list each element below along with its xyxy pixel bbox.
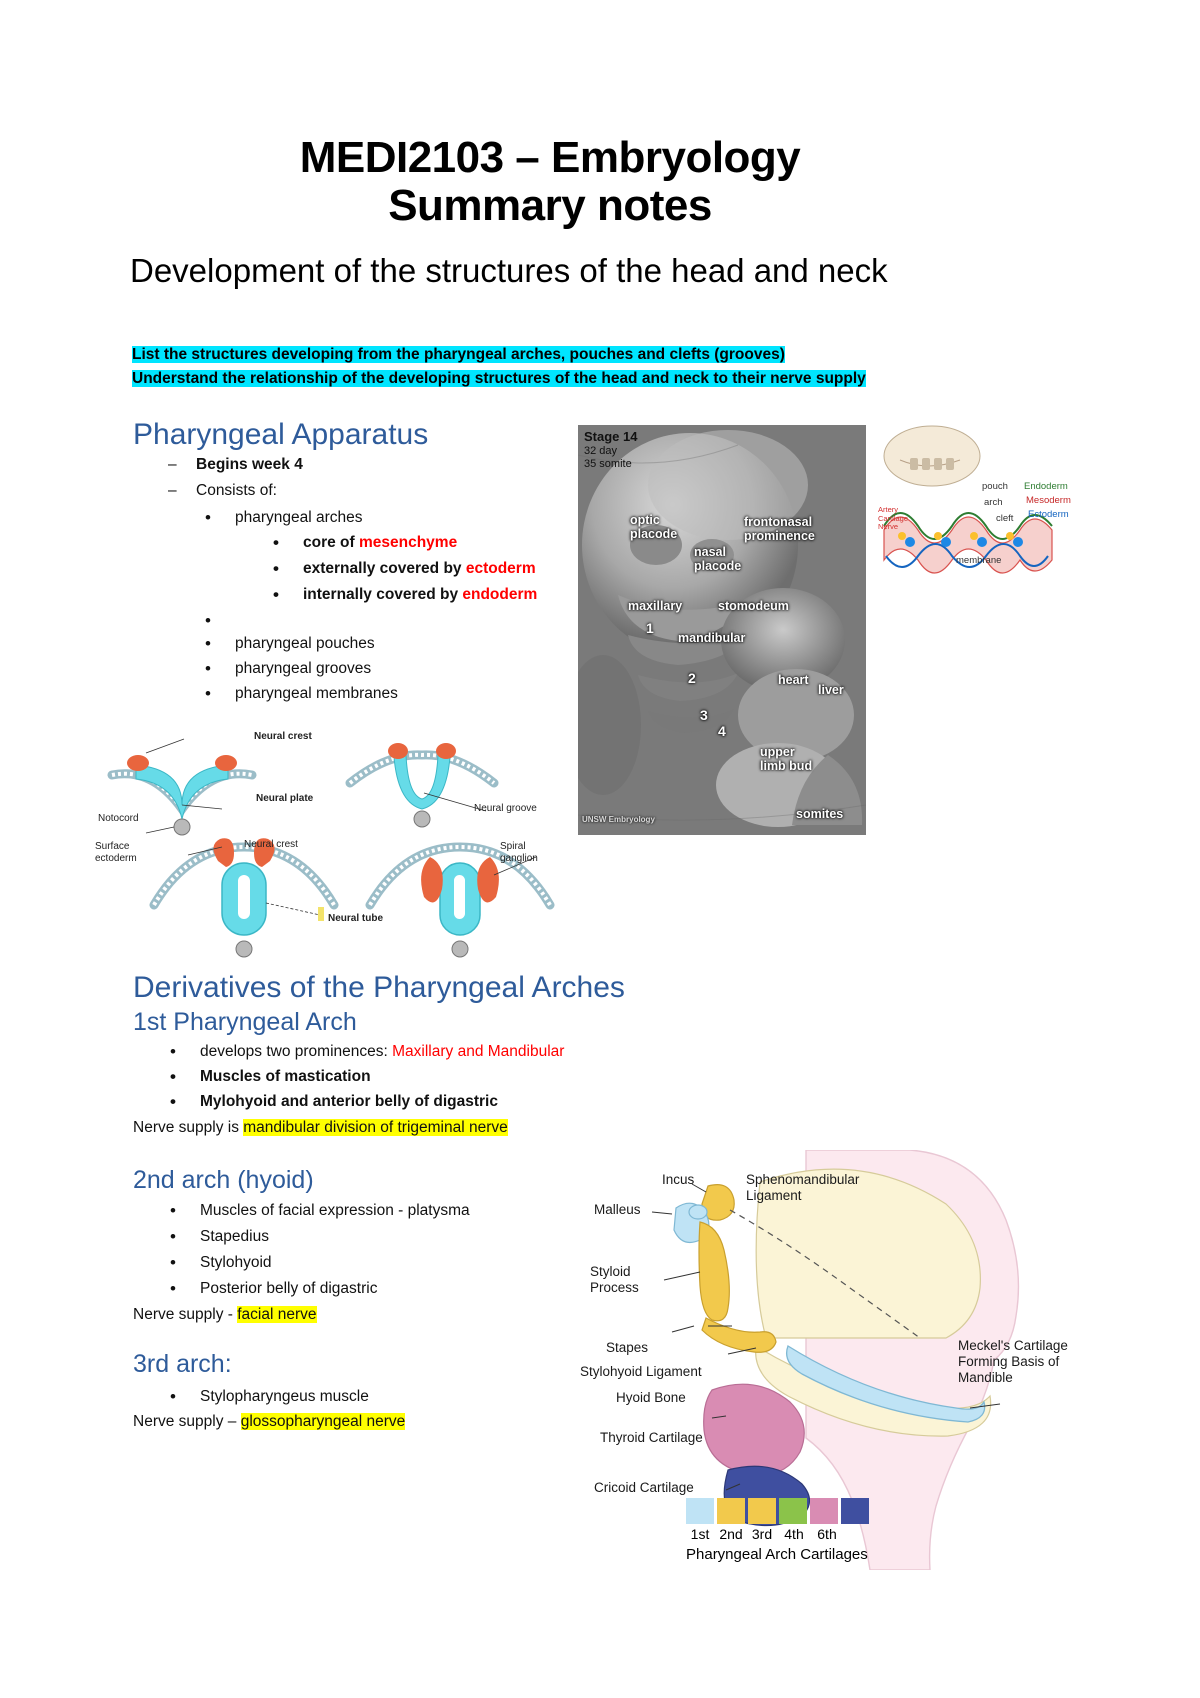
label-line: placode xyxy=(630,527,677,541)
label-text: Spiral ganglion xyxy=(500,841,538,864)
label-text: Styloid Process xyxy=(590,1264,639,1295)
label-line: nasal xyxy=(694,545,741,559)
label-cricoid-cartilage: Cricoid Cartilage xyxy=(594,1480,694,1496)
label-stomodeum: stomodeum xyxy=(718,599,789,613)
diag-label-mesoderm: Mesoderm xyxy=(1026,496,1071,507)
arch-number-4: 4 xyxy=(718,723,726,739)
nerve-highlight: facial nerve xyxy=(237,1306,316,1323)
bullet-text: pharyngeal pouches xyxy=(235,632,375,655)
label-thyroid-cartilage: Thyroid Cartilage xyxy=(600,1430,703,1446)
bullet-text-accent: Maxillary and Mandibular xyxy=(392,1043,564,1060)
arch2-bullet-stapedius: Stapedius xyxy=(200,1225,269,1248)
bullet-text: pharyngeal membranes xyxy=(235,682,398,705)
arch2-bullet-stylohyoid: Stylohyoid xyxy=(200,1251,272,1274)
arch3-bullet-stylopharyngeus: Stylopharyngeus muscle xyxy=(200,1385,369,1408)
neurulation-graphic xyxy=(96,715,566,965)
label-heart: heart xyxy=(778,673,809,687)
arch1-nerve-supply: Nerve supply is mandibular division of t… xyxy=(133,1116,508,1139)
legend-title: Pharyngeal Arch Cartilages xyxy=(686,1546,946,1563)
arch2-nerve-supply: Nerve supply - facial nerve xyxy=(133,1303,317,1326)
label-mandibular: mandibular xyxy=(678,631,745,645)
arch3-nerve-supply: Nerve supply – glossopharyngeal nerve xyxy=(133,1410,405,1433)
label-styloid-process: Styloid Process xyxy=(590,1264,650,1296)
diag-label-artery-cartilage-nerve: Artery Cartilage Nerve xyxy=(878,506,912,532)
label-nasal-placode: nasal placode xyxy=(694,545,741,574)
legend-swatch-6th xyxy=(810,1498,838,1524)
page-title: MEDI2103 – Embryology Summary notes xyxy=(130,134,970,229)
bullet-begins-week-4: Begins week 4 xyxy=(196,453,303,476)
bullet-text-accent: endoderm xyxy=(462,586,537,603)
label-line: frontonasal xyxy=(744,515,815,529)
label-line: upper xyxy=(760,745,812,759)
document-subtitle: Development of the structures of the hea… xyxy=(130,252,980,291)
arch1-bullet-muscles-mastication: Muscles of mastication xyxy=(200,1065,371,1088)
neural-tube-label: Neural tube xyxy=(328,913,383,925)
spiral-ganglion-label: Spiral ganglion xyxy=(500,841,542,864)
label-upper-limb-bud: upper limb bud xyxy=(760,745,812,774)
legend-swatches xyxy=(686,1498,946,1524)
diag-label-endoderm: Endoderm xyxy=(1024,482,1068,493)
label-line: limb bud xyxy=(760,759,812,773)
legend-key-2nd: 2nd xyxy=(717,1526,745,1542)
heading-arch-1: 1st Pharyngeal Arch xyxy=(133,1008,357,1037)
neural-crest-label-1: Neural crest xyxy=(254,731,312,743)
label-liver: liver xyxy=(818,683,844,697)
label-stapes: Stapes xyxy=(606,1340,648,1356)
bullet-internally-covered-endoderm: internally covered by endoderm xyxy=(303,583,537,606)
label-text: Meckel's Cartilage Forming Basis of Mand… xyxy=(958,1338,1068,1385)
bullet-text: Muscles of facial expression - platysma xyxy=(200,1199,470,1222)
label-line: prominence xyxy=(744,529,815,543)
photo-credit: UNSW Embryology xyxy=(582,815,655,824)
objective-2: Understand the relationship of the devel… xyxy=(132,370,866,387)
embryo-photo-graphic xyxy=(578,425,866,835)
arch-number-3: 3 xyxy=(700,707,708,723)
bullet-text-wrap: develops two prominences: Maxillary and … xyxy=(200,1040,564,1063)
legend-swatch-1st xyxy=(686,1498,714,1524)
diag-label-arch: arch xyxy=(984,498,1002,509)
pharyngeal-arch-section-diagram: Endoderm Mesoderm Ectoderm pouch arch cl… xyxy=(876,420,1068,610)
bullet-text: pharyngeal arches xyxy=(235,506,363,529)
embryo-stage-caption: Stage 14 32 day 35 somite xyxy=(584,429,637,471)
somite-label: 35 somite xyxy=(584,458,637,471)
bullet-text: Begins week 4 xyxy=(196,453,303,476)
arch1-bullet-prominences: develops two prominences: Maxillary and … xyxy=(200,1040,564,1063)
diag-label-cleft: cleft xyxy=(996,514,1013,525)
bullet-text: Consists of: xyxy=(196,479,277,502)
heading-pharyngeal-apparatus: Pharyngeal Apparatus xyxy=(133,418,428,452)
label-malleus: Malleus xyxy=(594,1202,641,1218)
stage-label: Stage 14 xyxy=(584,429,637,445)
bullet-text: pharyngeal grooves xyxy=(235,657,371,680)
arch-cartilage-legend: 1st 2nd 3rd 4th 6th Pharyngeal Arch Cart… xyxy=(686,1498,946,1563)
bullet-text: Stylopharyngeus muscle xyxy=(200,1385,369,1408)
bullet-pharyngeal-arches: pharyngeal arches xyxy=(235,506,363,529)
label-line: optic xyxy=(630,513,677,527)
nerve-highlight: glossopharyngeal nerve xyxy=(241,1413,406,1430)
day-label: 32 day xyxy=(584,445,637,458)
bullet-text: Stylohyoid xyxy=(200,1251,272,1274)
legend-key-4th: 4th xyxy=(779,1526,809,1542)
learning-objectives: List the structures developing from the … xyxy=(132,343,977,391)
heading-arch-3: 3rd arch: xyxy=(133,1350,232,1379)
neural-groove-label: Neural groove xyxy=(474,803,537,815)
title-line-2: Summary notes xyxy=(130,182,970,230)
legend-swatch-2nd xyxy=(717,1498,745,1524)
label-meckels-cartilage: Meckel's Cartilage Forming Basis of Mand… xyxy=(958,1338,1094,1386)
diag-label-membrane: membrane xyxy=(956,556,1001,567)
diag-label-pouch: pouch xyxy=(982,482,1008,493)
neural-crest-label-2: Neural crest xyxy=(244,839,298,851)
nerve-highlight: mandibular division of trigeminal nerve xyxy=(243,1119,508,1136)
arch1-bullet-mylohyoid: Mylohyoid and anterior belly of digastri… xyxy=(200,1090,498,1113)
bullet-text-wrap: internally covered by endoderm xyxy=(303,583,537,606)
notocord-label: Notocord xyxy=(98,813,139,825)
bullet-text-wrap: core of mesenchyme xyxy=(303,531,457,554)
label-maxillary: maxillary xyxy=(628,599,682,613)
legend-swatch-3rd xyxy=(748,1498,776,1524)
label-hyoid-bone: Hyoid Bone xyxy=(616,1390,686,1406)
bullet-text-accent: mesenchyme xyxy=(359,534,457,551)
diag-label-ectoderm: Ectoderm xyxy=(1028,510,1069,521)
bullet-text: Mylohyoid and anterior belly of digastri… xyxy=(200,1090,498,1113)
bullet-text: Muscles of mastication xyxy=(200,1065,371,1088)
bullet-text: core of xyxy=(303,534,359,551)
heading-arch-2: 2nd arch (hyoid) xyxy=(133,1166,314,1195)
bullet-text: Stapedius xyxy=(200,1225,269,1248)
label-somites: somites xyxy=(796,807,843,821)
legend-key-1st: 1st xyxy=(686,1526,714,1542)
arch-cartilages-figure: Incus Malleus Styloid Process Stapes Sty… xyxy=(580,1150,1100,1698)
bullet-pharyngeal-pouches: pharyngeal pouches xyxy=(235,632,375,655)
document-page: MEDI2103 – Embryology Summary notes Deve… xyxy=(0,0,1200,1698)
objective-1: List the structures developing from the … xyxy=(132,346,785,363)
surface-ectoderm-label: Surface ectoderm xyxy=(95,841,151,864)
arch2-bullet-posterior-digastric: Posterior belly of digastric xyxy=(200,1277,377,1300)
heading-derivatives: Derivatives of the Pharyngeal Arches xyxy=(133,971,625,1005)
arch-number-1: 1 xyxy=(646,620,654,636)
neurulation-diagram: Neural crest Neural plate Notocord Neura… xyxy=(96,715,566,965)
bullet-consists-of: Consists of: xyxy=(196,479,277,502)
bullet-text: internally covered by xyxy=(303,586,462,603)
legend-keys: 1st 2nd 3rd 4th 6th xyxy=(686,1526,946,1542)
label-frontonasal-prominence: frontonasal prominence xyxy=(744,515,815,544)
arch2-bullet-facial-expression: Muscles of facial expression - platysma xyxy=(200,1199,470,1222)
label-text: Surface ectoderm xyxy=(95,841,137,864)
nerve-prefix: Nerve supply - xyxy=(133,1306,237,1323)
bullet-pharyngeal-membranes: pharyngeal membranes xyxy=(235,682,398,705)
bullet-externally-covered-ectoderm: externally covered by ectoderm xyxy=(303,557,536,580)
title-line-1: MEDI2103 – Embryology xyxy=(130,134,970,182)
label-stylohyoid-ligament: Stylohyoid Ligament xyxy=(580,1364,702,1380)
nerve-prefix: Nerve supply – xyxy=(133,1413,241,1430)
objective-row-1: List the structures developing from the … xyxy=(132,343,977,367)
bullet-text: externally covered by xyxy=(303,560,466,577)
embryo-photo: Stage 14 32 day 35 somite optic placode … xyxy=(578,425,866,835)
label-optic-placode: optic placode xyxy=(630,513,677,542)
label-line: placode xyxy=(694,559,741,573)
legend-swatch-extra xyxy=(841,1498,869,1524)
objective-row-2: Understand the relationship of the devel… xyxy=(132,367,977,391)
nerve-prefix: Nerve supply is xyxy=(133,1119,243,1136)
legend-key-3rd: 3rd xyxy=(748,1526,776,1542)
legend-swatch-4th xyxy=(779,1498,807,1524)
bullet-text-accent: ectoderm xyxy=(466,560,536,577)
label-sphenomandibular-ligament: Sphenomandibular Ligament xyxy=(746,1172,906,1204)
label-text: Sphenomandibular Ligament xyxy=(746,1172,859,1203)
label-incus: Incus xyxy=(662,1172,694,1188)
legend-key-6th: 6th xyxy=(812,1526,842,1542)
bullet-pharyngeal-grooves: pharyngeal grooves xyxy=(235,657,371,680)
bullet-text-wrap: externally covered by ectoderm xyxy=(303,557,536,580)
arch-number-2: 2 xyxy=(688,670,696,686)
bullet-text: develops two prominences: xyxy=(200,1043,392,1060)
bullet-text: Posterior belly of digastric xyxy=(200,1277,377,1300)
neural-plate-label: Neural plate xyxy=(256,793,313,805)
bullet-core-of-mesenchyme: core of mesenchyme xyxy=(303,531,457,554)
